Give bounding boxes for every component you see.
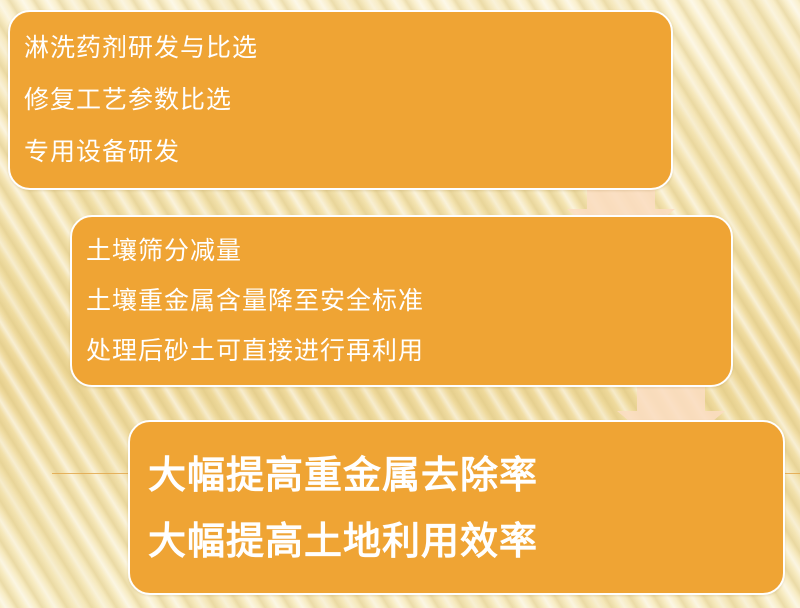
slide-canvas: 淋洗药剂研发与比选 修复工艺参数比选 专用设备研发 土壤筛分减量 土壤重金属含量… [0,0,800,608]
connector-line-right [783,473,800,474]
box-outcome-line-1: 大幅提高重金属去除率 [130,442,783,508]
box-results[interactable]: 土壤筛分减量 土壤重金属含量降至安全标准 处理后砂土可直接进行再利用 [70,215,733,387]
connector-line-left [52,473,132,474]
box-research-line-3: 专用设备研发 [10,126,671,178]
box-research-line-2: 修复工艺参数比选 [10,74,671,126]
box-outcome-line-2: 大幅提高土地利用效率 [130,508,783,574]
box-research-line-1: 淋洗药剂研发与比选 [10,22,671,74]
box-results-line-1: 土壤筛分减量 [72,226,731,276]
box-outcome[interactable]: 大幅提高重金属去除率 大幅提高土地利用效率 [128,420,785,595]
box-results-line-3: 处理后砂土可直接进行再利用 [72,326,731,376]
box-research[interactable]: 淋洗药剂研发与比选 修复工艺参数比选 专用设备研发 [8,10,673,190]
box-results-line-2: 土壤重金属含量降至安全标准 [72,276,731,326]
